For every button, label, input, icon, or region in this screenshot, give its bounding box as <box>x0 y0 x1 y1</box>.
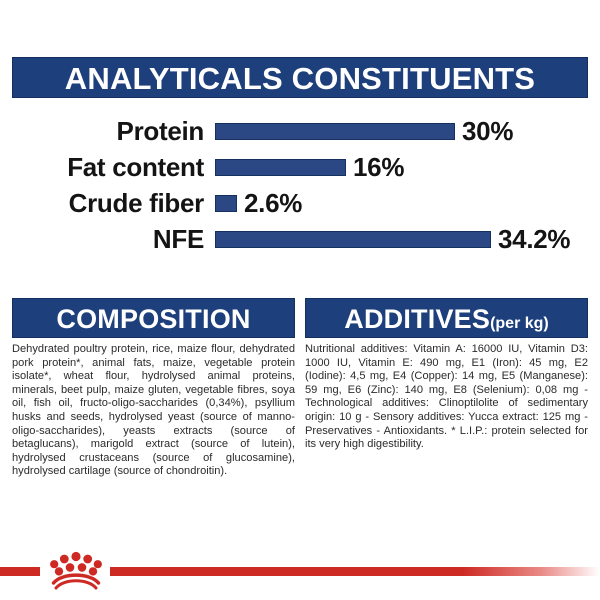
chart-bar-nfe <box>215 231 491 248</box>
additives-header-suffix: (per kg) <box>490 315 549 332</box>
chart-label-nfe: NFE <box>12 224 215 255</box>
chart-bar-wrap: 16% <box>215 152 588 183</box>
chart-bar-protein <box>215 123 455 140</box>
chart-value-crude-fiber: 2.6% <box>244 188 302 219</box>
chart-bar-fat-content <box>215 159 346 176</box>
chart-value-protein: 30% <box>462 116 513 147</box>
analyticals-bar-chart: Protein 30% Fat content 16% Crude fiber … <box>12 113 588 257</box>
chart-label-fat-content: Fat content <box>12 152 215 183</box>
chart-row: Fat content 16% <box>12 149 588 185</box>
detail-columns: COMPOSITION Dehydrated poultry protein, … <box>12 298 588 479</box>
composition-column: COMPOSITION Dehydrated poultry protein, … <box>12 298 295 479</box>
footer <box>0 560 600 600</box>
chart-row: Crude fiber 2.6% <box>12 185 588 221</box>
footer-rule-left <box>0 567 40 576</box>
royal-canin-crown-icon <box>44 544 108 592</box>
chart-bar-wrap: 2.6% <box>215 188 588 219</box>
chart-row: Protein 30% <box>12 113 588 149</box>
chart-bar-crude-fiber <box>215 195 237 212</box>
chart-label-crude-fiber: Crude fiber <box>12 188 215 219</box>
additives-header-title: ADDITIVES <box>344 304 490 334</box>
composition-text: Dehydrated poultry protein, rice, maize … <box>12 343 295 479</box>
chart-label-protein: Protein <box>12 116 215 147</box>
label-page: ANALYTICALS CONSTITUENTS Protein 30% Fat… <box>0 0 600 600</box>
additives-column: ADDITIVES(per kg) Nutritional additives:… <box>305 298 588 479</box>
chart-bar-wrap: 30% <box>215 116 588 147</box>
chart-value-nfe: 34.2% <box>498 224 570 255</box>
analyticals-panel: ANALYTICALS CONSTITUENTS <box>12 57 588 98</box>
footer-rule-right <box>110 567 600 576</box>
chart-value-fat-content: 16% <box>353 152 404 183</box>
chart-row: NFE 34.2% <box>12 221 588 257</box>
additives-text: Nutritional additives: Vitamin A: 16000 … <box>305 343 588 452</box>
additives-header: ADDITIVES(per kg) <box>305 298 588 338</box>
composition-header: COMPOSITION <box>12 298 295 338</box>
chart-bar-wrap: 34.2% <box>215 224 588 255</box>
analyticals-header: ANALYTICALS CONSTITUENTS <box>12 57 588 98</box>
